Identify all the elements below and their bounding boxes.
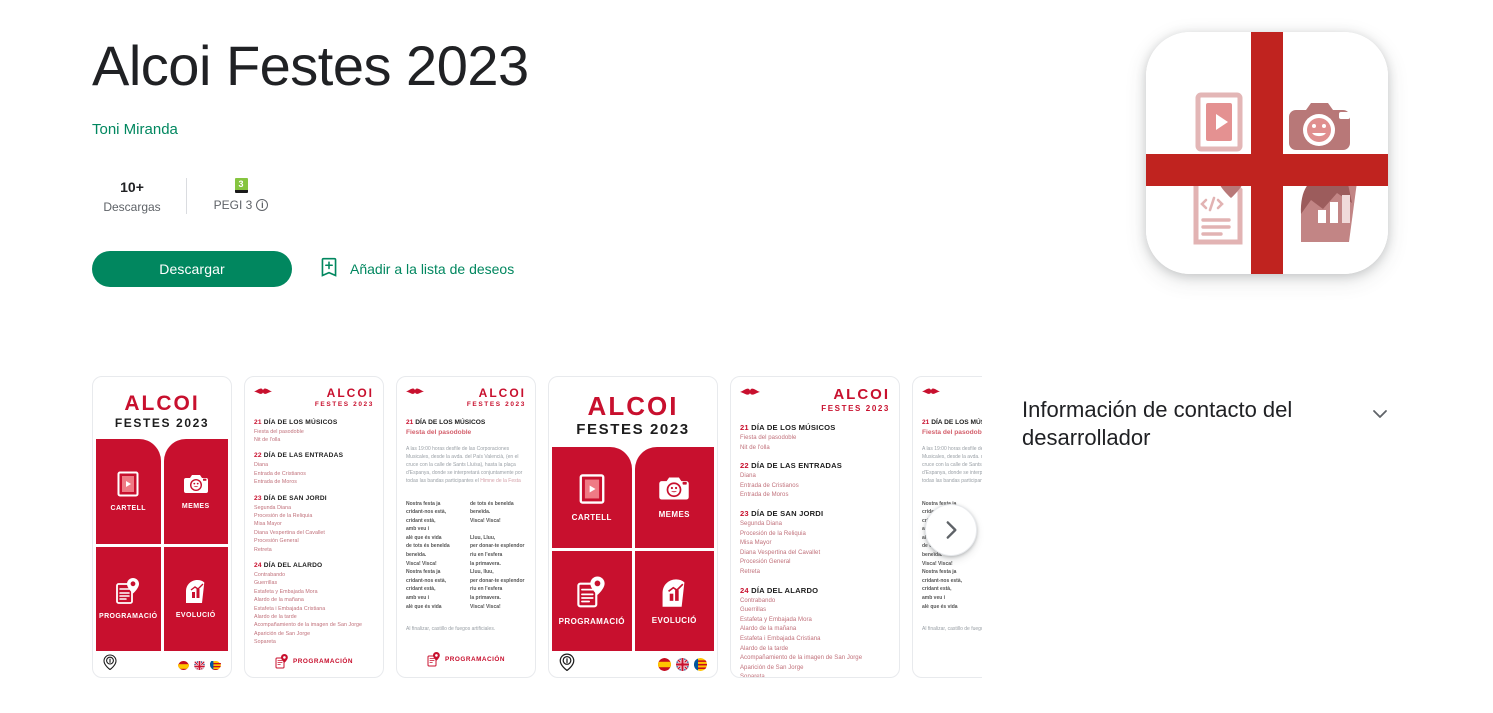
install-button[interactable]: Descargar	[92, 251, 292, 287]
page-title: Alcoi Festes 2023	[92, 34, 1092, 98]
day-item[interactable]: Diana	[740, 472, 890, 482]
tile-cartell[interactable]: CARTELL	[96, 439, 161, 544]
day-title-text: DÍA DE LAS ENTRADAS	[264, 452, 343, 459]
program-day: 21 DÍA DE LOS MÚSICOS Fiesta del pasodob…	[254, 418, 374, 445]
program-footer-label: PROGRAMACIÓN	[445, 656, 505, 663]
logo-alcoi: ALCOI	[93, 393, 231, 414]
stat-content-rating: 3 PEGI 3 i	[201, 179, 281, 213]
day-number: 23	[254, 495, 262, 502]
language-flags	[658, 658, 707, 671]
day-title: 23 DÍA DE SAN JORDI	[254, 494, 374, 504]
logo-alcoi: ALCOI	[821, 387, 890, 402]
day-item[interactable]: Estafeta i Embajada Cristiana	[740, 635, 890, 645]
detail-title: 21 DÍA DE LOS MÚSICOS	[922, 418, 982, 428]
day-title: 21 DÍA DE LOS MÚSICOS	[740, 422, 890, 434]
day-number: 22	[740, 461, 749, 470]
day-item[interactable]: Diana	[254, 461, 374, 469]
downloads-label: Descargas	[103, 199, 160, 215]
screenshot-thumbnail[interactable]: ALCOI FESTES 2023 21 DÍA DE LOS MÚSICOS …	[396, 376, 536, 678]
app-hero: Alcoi Festes 2023 Toni Miranda 10+ Desca…	[92, 34, 1092, 287]
lyrics-right: de tots és beneïda beneïda. Visca! Visca…	[470, 500, 526, 612]
day-number: 23	[740, 509, 749, 518]
day-item[interactable]: Procesión de la Reliquia	[254, 512, 374, 520]
poster-play-icon	[579, 473, 605, 505]
carousel-next-button[interactable]	[925, 504, 977, 556]
app-logo: ALCOI FESTES 2023	[821, 387, 890, 413]
flag-united-kingdom[interactable]	[194, 659, 205, 670]
program-day: 23 DÍA DE SAN JORDI Segunda Diana Proces…	[740, 508, 890, 578]
document-pin-icon	[576, 575, 607, 609]
detail-body-text: A las 19:00 horas desfile de las Corpora…	[922, 446, 982, 485]
day-item[interactable]: Misa Mayor	[740, 539, 890, 549]
developer-contact-title: Información de contacto del desarrollado…	[1022, 396, 1332, 452]
detail-title: 21 DÍA DE LOS MÚSICOS	[406, 418, 526, 428]
day-item[interactable]: Nit de l'olla	[254, 436, 374, 444]
himne-link[interactable]: Himne de la Festa	[480, 478, 521, 484]
downloads-value: 10+	[120, 177, 144, 197]
tile-memes[interactable]: MEMES	[164, 439, 229, 544]
stat-downloads: 10+ Descargas	[92, 177, 172, 215]
day-item[interactable]: Alardo de la tarde	[254, 613, 374, 621]
tile-label: MEMES	[182, 503, 210, 510]
wishlist-label: Añadir a la lista de deseos	[350, 261, 514, 277]
day-item[interactable]: Aparición de San Jorge	[254, 630, 374, 638]
detail-subtitle: Fiesta del pasodoble	[922, 428, 982, 438]
screenshot-thumbnail[interactable]: ALCOI FESTES 2023 21 DÍA DE LOS MÚSICOS …	[730, 376, 900, 678]
logo-festes: FESTES 2023	[315, 402, 374, 409]
head-chart-icon	[183, 578, 209, 604]
bat-icon	[740, 387, 760, 397]
day-item[interactable]: Procesión General	[254, 537, 374, 545]
tile-label: PROGRAMACIÓ	[99, 613, 157, 620]
program-day: 24 DÍA DEL ALARDO Contrabando Guerrillas…	[740, 585, 890, 678]
day-title-text: DÍA DE LOS MÚSICOS	[931, 419, 982, 426]
home-tiles: CARTELL MEMES	[93, 439, 231, 651]
day-number: 21	[922, 419, 929, 426]
day-item[interactable]: Acompañamiento de la imagen de San Jorge	[254, 621, 374, 629]
day-number: 22	[254, 452, 262, 459]
info-icon[interactable]: i	[256, 199, 268, 211]
stats-divider	[186, 178, 187, 214]
day-item[interactable]: Retreta	[254, 546, 374, 554]
language-flags	[178, 659, 221, 670]
home-tiles: CARTELL MEMES	[549, 447, 717, 651]
tile-evolucio[interactable]: EVOLUCIÓ	[635, 551, 715, 652]
program-footer: PROGRAMACIÓN	[254, 654, 374, 671]
day-title-text: DÍA DEL ALARDO	[751, 586, 818, 595]
home-footer	[549, 651, 717, 677]
app-icon	[1146, 32, 1388, 274]
day-item[interactable]: Segunda Diana	[254, 504, 374, 512]
camera-smiley-icon	[658, 475, 690, 502]
day-number: 21	[740, 423, 749, 432]
chevron-down-icon[interactable]	[1368, 402, 1392, 431]
tile-label: EVOLUCIÓ	[176, 612, 216, 619]
document-pin-icon	[115, 577, 141, 605]
tile-programacio[interactable]: PROGRAMACIÓ	[96, 547, 161, 652]
camera-smiley-icon	[183, 473, 209, 495]
program-day: 24 DÍA DEL ALARDO Contrabando Guerrillas…	[254, 561, 374, 647]
day-title-text: DÍA DE LOS MÚSICOS	[751, 423, 835, 432]
day-title: 22 DÍA DE LAS ENTRADAS	[254, 451, 374, 461]
day-item[interactable]: Entrada de Cristianos	[740, 482, 890, 492]
day-title-text: DÍA DE SAN JORDI	[264, 495, 327, 502]
screenshot-thumbnail[interactable]: ALCOI FESTES 2023 CARTELL	[548, 376, 718, 678]
day-item[interactable]: Fiesta del pasodoble	[740, 434, 890, 444]
tile-memes[interactable]: MEMES	[635, 447, 715, 548]
developer-link[interactable]: Toni Miranda	[92, 120, 1092, 140]
day-item[interactable]: Entrada de Moros	[740, 491, 890, 501]
program-footer: PROGRAMACIÓN	[406, 652, 526, 669]
chevron-right-icon	[938, 517, 964, 543]
info-pin-icon[interactable]	[103, 654, 117, 675]
lyrics-left: Nostra festa ja cridant-nos està, cridan…	[406, 500, 462, 612]
program-header: ALCOI FESTES 2023	[740, 387, 890, 413]
day-item[interactable]: Fiesta del pasodoble	[254, 428, 374, 436]
day-title-text: DÍA DE LOS MÚSICOS	[264, 419, 338, 426]
day-item[interactable]: Retreta	[740, 568, 890, 578]
logo-festes: FESTES 2023	[821, 405, 890, 413]
day-title-text: DÍA DEL ALARDO	[264, 562, 323, 569]
logo-festes: FESTES 2023	[467, 402, 526, 409]
tile-cartell[interactable]: CARTELL	[552, 447, 632, 548]
tile-evolucio[interactable]: EVOLUCIÓ	[164, 547, 229, 652]
day-title: 21 DÍA DE LOS MÚSICOS	[254, 418, 374, 428]
tile-label: PROGRAMACIÓ	[559, 617, 625, 626]
bat-icon	[922, 387, 940, 396]
app-logo: ALCOI FESTES 2023	[467, 387, 526, 409]
app-stats: 10+ Descargas 3 PEGI 3 i	[92, 173, 1092, 219]
screenshot-carousel[interactable]: ALCOI FESTES 2023 CARTELL	[92, 376, 982, 678]
wishlist-button[interactable]: Añadir a la lista de deseos	[320, 257, 514, 282]
flag-spain[interactable]	[658, 658, 671, 671]
program-list: 21 DÍA DE LOS MÚSICOS Fiesta del pasodob…	[254, 418, 374, 654]
app-icon-art	[1146, 32, 1388, 274]
day-number: 24	[254, 562, 262, 569]
day-item[interactable]: Alardo de la mañana	[254, 596, 374, 604]
detail-header: ALCOI FESTES 2023	[922, 387, 982, 409]
app-logo: ALCOI FESTES 2023	[93, 377, 231, 439]
day-item[interactable]: Misa Mayor	[254, 520, 374, 528]
day-item[interactable]: Alardo de la tarde	[740, 645, 890, 655]
day-item[interactable]: Nit de l'olla	[740, 444, 890, 454]
logo-festes: FESTES 2023	[549, 422, 717, 437]
detail-body: A las 19:00 horas desfile de las Corpora…	[406, 445, 526, 486]
day-item[interactable]: Acompañamiento de la imagen de San Jorge	[740, 654, 890, 664]
tile-programacio[interactable]: PROGRAMACIÓ	[552, 551, 632, 652]
tile-label: EVOLUCIÓ	[652, 616, 697, 625]
day-item[interactable]: Aparición de San Jorge	[740, 664, 890, 674]
info-pin-icon[interactable]	[559, 653, 575, 676]
day-item[interactable]: Diana Vespertina del Cavallet	[740, 549, 890, 559]
app-logo: ALCOI FESTES 2023	[549, 377, 717, 447]
program-list: 21 DÍA DE LOS MÚSICOS Fiesta del pasodob…	[740, 422, 890, 678]
day-item[interactable]: Procesión General	[740, 558, 890, 568]
day-item[interactable]: Contrabando	[740, 597, 890, 607]
app-logo: ALCOI FESTES 2023	[315, 387, 374, 409]
day-title: 24 DÍA DEL ALARDO	[254, 561, 374, 571]
day-item[interactable]: Entrada de Moros	[254, 478, 374, 486]
flag-spain[interactable]	[178, 659, 189, 670]
tile-label: MEMES	[659, 510, 690, 519]
program-day: 21 DÍA DE LOS MÚSICOS Fiesta del pasodob…	[740, 422, 890, 453]
bat-icon	[254, 387, 272, 396]
screenshot-thumbnail[interactable]: ALCOI FESTES 2023 21 DÍA DE LOS MÚSICOS …	[244, 376, 384, 678]
tile-label: CARTELL	[111, 505, 146, 512]
day-item[interactable]: Sopareta	[254, 638, 374, 646]
day-item[interactable]: Segunda Diana	[740, 520, 890, 530]
day-item[interactable]: Procesión de la Reliquia	[740, 530, 890, 540]
flag-united-kingdom[interactable]	[676, 658, 689, 671]
pegi-row: PEGI 3 i	[214, 197, 269, 213]
day-title-text: DÍA DE LOS MÚSICOS	[415, 419, 485, 426]
day-item[interactable]: Guerrillas	[740, 606, 890, 616]
tile-label: CARTELL	[572, 513, 612, 522]
bat-icon	[406, 387, 424, 396]
home-footer	[93, 651, 231, 677]
day-item[interactable]: Contrabando	[254, 571, 374, 579]
day-number: 21	[406, 419, 413, 426]
detail-note: Al finalizar, castillo de fuegos artific…	[406, 625, 526, 633]
flag-valencia[interactable]	[210, 659, 221, 670]
developer-contact-section[interactable]: Información de contacto del desarrollado…	[1022, 396, 1392, 452]
day-number: 24	[740, 586, 749, 595]
poster-play-icon	[117, 471, 139, 497]
pegi-label: PEGI 3	[214, 197, 253, 213]
flag-valencia[interactable]	[694, 658, 707, 671]
day-item[interactable]: Entrada de Cristianos	[254, 470, 374, 478]
program-footer-label: PROGRAMACIÓN	[293, 658, 353, 665]
detail-header: ALCOI FESTES 2023	[406, 387, 526, 409]
program-header: ALCOI FESTES 2023	[254, 387, 374, 409]
logo-alcoi: ALCOI	[315, 387, 374, 399]
detail-note: Al finalizar, castillo de fuegos artific…	[922, 625, 982, 633]
day-item[interactable]: Estafeta i Embajada Cristiana	[254, 605, 374, 613]
day-item[interactable]: Estafeta y Embajada Mora	[254, 588, 374, 596]
program-day: 22 DÍA DE LAS ENTRADAS Diana Entrada de …	[740, 460, 890, 501]
document-pin-icon	[275, 654, 288, 669]
lyrics: Nostra festa ja cridant-nos està, cridan…	[406, 500, 526, 612]
day-title: 24 DÍA DEL ALARDO	[740, 585, 890, 597]
day-item[interactable]: Estafeta y Embajada Mora	[740, 616, 890, 626]
logo-alcoi: ALCOI	[467, 387, 526, 399]
day-item[interactable]: Guerrillas	[254, 579, 374, 587]
pegi-badge: 3	[235, 178, 248, 193]
head-chart-icon	[659, 577, 690, 608]
day-number: 21	[254, 419, 262, 426]
action-row: Descargar Añadir a la lista de deseos	[92, 251, 1092, 287]
day-item[interactable]: Diana Vespertina del Cavallet	[254, 529, 374, 537]
program-day: 22 DÍA DE LAS ENTRADAS Diana Entrada de …	[254, 451, 374, 486]
day-title-text: DÍA DE LAS ENTRADAS	[751, 461, 842, 470]
day-item[interactable]: Alardo de la mañana	[740, 625, 890, 635]
play-store-app-page: Alcoi Festes 2023 Toni Miranda 10+ Desca…	[0, 0, 1493, 713]
program-day: 23 DÍA DE SAN JORDI Segunda Diana Proces…	[254, 494, 374, 554]
screenshot-thumbnail[interactable]: ALCOI FESTES 2023 CARTELL	[92, 376, 232, 678]
document-pin-icon	[427, 652, 440, 667]
day-title: 23 DÍA DE SAN JORDI	[740, 508, 890, 520]
bookmark-plus-icon	[320, 257, 338, 282]
day-title-text: DÍA DE SAN JORDI	[751, 509, 823, 518]
day-title: 22 DÍA DE LAS ENTRADAS	[740, 460, 890, 472]
logo-alcoi: ALCOI	[549, 393, 717, 419]
logo-festes: FESTES 2023	[93, 417, 231, 429]
detail-body: A las 19:00 horas desfile de las Corpora…	[922, 445, 982, 486]
day-item[interactable]: Sopareta	[740, 673, 890, 678]
detail-subtitle: Fiesta del pasodoble	[406, 428, 526, 438]
